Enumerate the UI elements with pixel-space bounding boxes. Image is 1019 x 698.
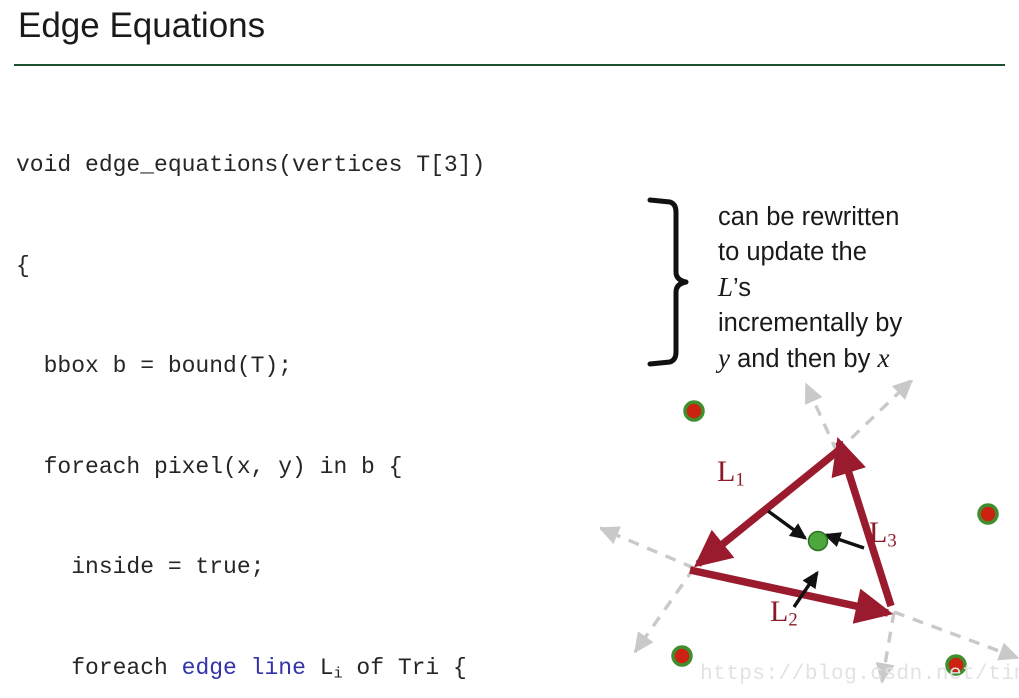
dashed-line-top-a <box>806 384 837 452</box>
annotation-math-y: y <box>718 343 730 373</box>
slide-canvas: Edge Equations void edge_equations(verti… <box>0 0 1019 698</box>
code-line-5: inside = true; <box>16 551 656 585</box>
annotation-line-3: L’s <box>718 270 980 306</box>
code-indent: foreach <box>16 655 182 681</box>
code-line-2: { <box>16 250 656 284</box>
watermark-text: https://blog.csdn.net/timso1997 <box>700 663 1019 686</box>
code-keyword-line: line <box>251 655 306 681</box>
page-title: Edge Equations <box>18 6 265 46</box>
edge-label-L2-base: L <box>770 595 788 628</box>
triangle-diagram: L1 L3 L2 <box>600 380 1019 698</box>
right-curly-brace-icon <box>646 196 696 368</box>
normal-arrow-L1 <box>768 511 805 538</box>
sample-point-outside-top-left <box>685 402 703 420</box>
edge-label-L1: L1 <box>717 455 745 489</box>
edge-label-L2: L2 <box>770 595 798 629</box>
code-subscript-i: i <box>334 664 343 682</box>
annotation-math-L: L <box>718 272 733 302</box>
annotation-line-4: incrementally by <box>718 306 980 341</box>
normal-arrow-L3 <box>826 535 864 548</box>
triangle-diagram-svg <box>600 380 1019 698</box>
dashed-line-top-b <box>837 380 912 452</box>
annotation-line-2: to update the <box>718 235 980 270</box>
dashed-extension-lines <box>600 380 1018 682</box>
annotation-text: can be rewritten to update the L’s incre… <box>718 200 980 377</box>
code-line-3: bbox b = bound(T); <box>16 350 656 384</box>
code-line-4: foreach pixel(x, y) in b { <box>16 451 656 485</box>
sample-point-outside-bottom-left <box>673 647 691 665</box>
title-divider <box>14 64 1005 66</box>
code-line-6: foreach edge line Li of Tri { <box>16 652 656 686</box>
code-line-1: void edge_equations(vertices T[3]) <box>16 149 656 183</box>
code-keyword-edge: edge <box>182 655 237 681</box>
dashed-line-br-a <box>894 612 1018 658</box>
edge-label-L3: L3 <box>869 516 897 550</box>
dashed-line-left-b <box>635 568 694 652</box>
sample-point-inside-center <box>809 532 828 551</box>
code-space <box>237 655 251 681</box>
dashed-line-left-a <box>600 528 694 568</box>
edge-label-L1-sub: 1 <box>735 470 744 491</box>
annotation-possessive: ’s <box>733 274 751 302</box>
code-listing: void edge_equations(vertices T[3]) { bbo… <box>16 82 656 698</box>
annotation-line-5: y and then by x <box>718 341 980 377</box>
annotation-line5-mid: and then by <box>730 345 877 373</box>
edge-label-L1-base: L <box>717 455 735 488</box>
edge-label-L3-base: L <box>869 516 887 549</box>
annotation-math-x: x <box>877 343 889 373</box>
annotation-line-1: can be rewritten <box>718 200 980 235</box>
edge-label-L3-sub: 3 <box>887 531 896 552</box>
sample-point-outside-right <box>979 505 997 523</box>
code-tail: Li of Tri { <box>306 655 467 681</box>
edge-label-L2-sub: 2 <box>788 610 797 631</box>
